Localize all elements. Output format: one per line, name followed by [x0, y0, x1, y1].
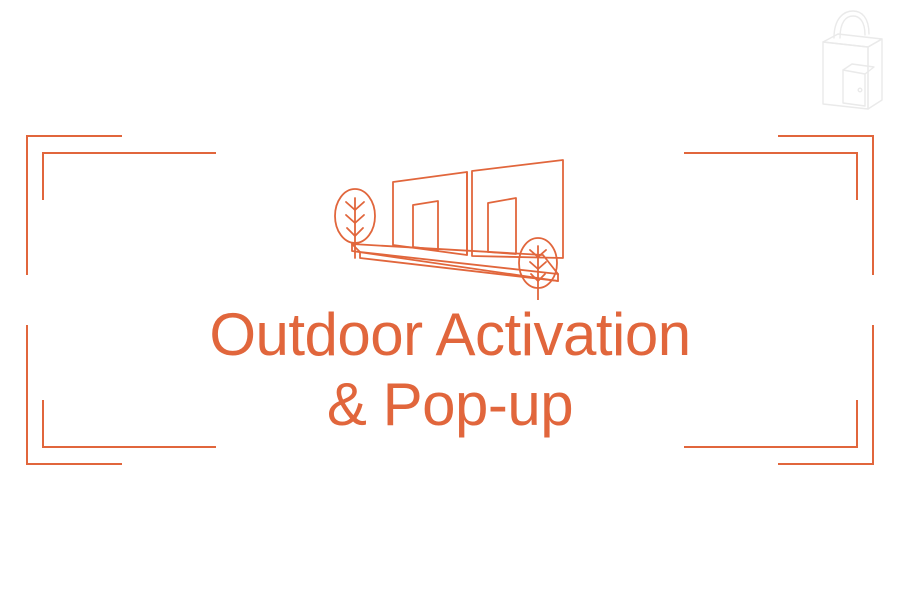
- bag-door-knob: [858, 88, 862, 92]
- bracket-top-right-outer: [778, 136, 873, 275]
- bracket-top-left-inner: [43, 153, 216, 200]
- bag-top-face: [823, 34, 882, 47]
- slide-canvas: Outdoor Activation & Pop-up: [0, 0, 900, 600]
- bracket-top-right-inner: [684, 153, 857, 200]
- doorway-right: [488, 198, 516, 254]
- bracket-top-left-outer: [27, 136, 122, 275]
- bag-side-face: [868, 39, 882, 109]
- outdoor-pavilion-line-art: [320, 148, 584, 300]
- doorway-left: [413, 201, 438, 250]
- bag-door-panel: [843, 70, 865, 106]
- title-block: Outdoor Activation & Pop-up: [0, 300, 900, 440]
- wall-panel-left: [393, 172, 467, 255]
- shopping-bag-with-door-icon: [812, 8, 886, 112]
- title-line-2: & Pop-up: [0, 370, 900, 440]
- bag-front-face: [823, 42, 868, 109]
- title-line-1: Outdoor Activation: [0, 300, 900, 370]
- shopping-bag-watermark-svg: [812, 8, 886, 112]
